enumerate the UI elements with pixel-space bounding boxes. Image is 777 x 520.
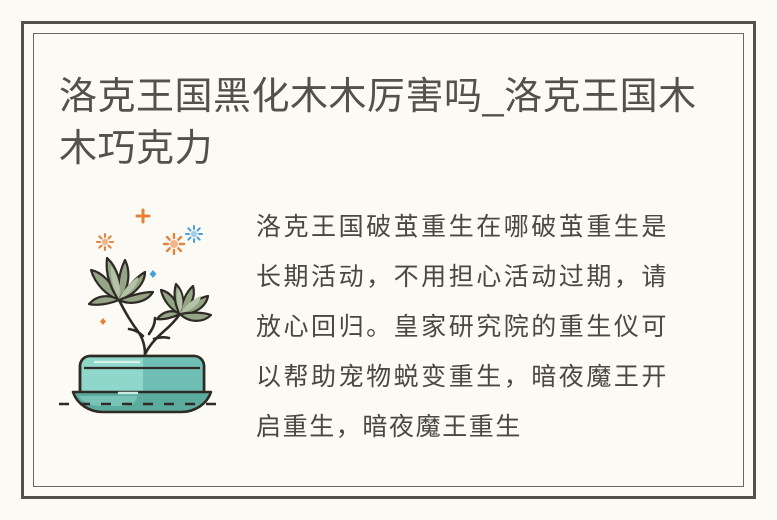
article-content-row: 洛克王国破茧重生在哪破茧重生是长期活动，不用担心活动过期，请放心回归。皇家研究院… xyxy=(24,184,753,464)
left-succulent-rosette xyxy=(89,258,153,305)
burst-sparkle-blue-icon xyxy=(186,226,202,242)
burst-sparkle-orange-right-icon xyxy=(164,234,184,254)
right-succulent-rosette xyxy=(157,284,211,321)
article-page: 洛克王国黑化木木厉害吗_洛克王国木木巧克力 xyxy=(0,0,777,520)
page-title: 洛克王国黑化木木厉害吗_洛克王国木木巧克力 xyxy=(59,71,699,175)
plus-sparkle-orange-icon xyxy=(137,210,149,222)
article-body-text: 洛克王国破茧重生在哪破茧重生是长期活动，不用担心活动过期，请放心回归。皇家研究院… xyxy=(256,202,668,452)
page-outer-border: 洛克王国黑化木木厉害吗_洛克王国木木巧克力 xyxy=(21,21,756,499)
pot-saucer xyxy=(73,392,211,412)
dot-sparkle-orange-icon xyxy=(100,318,106,325)
burst-sparkle-orange-left-icon xyxy=(97,234,113,250)
dot-sparkle-blue-icon xyxy=(150,270,157,278)
potted-succulent-plant-illustration xyxy=(59,196,234,416)
